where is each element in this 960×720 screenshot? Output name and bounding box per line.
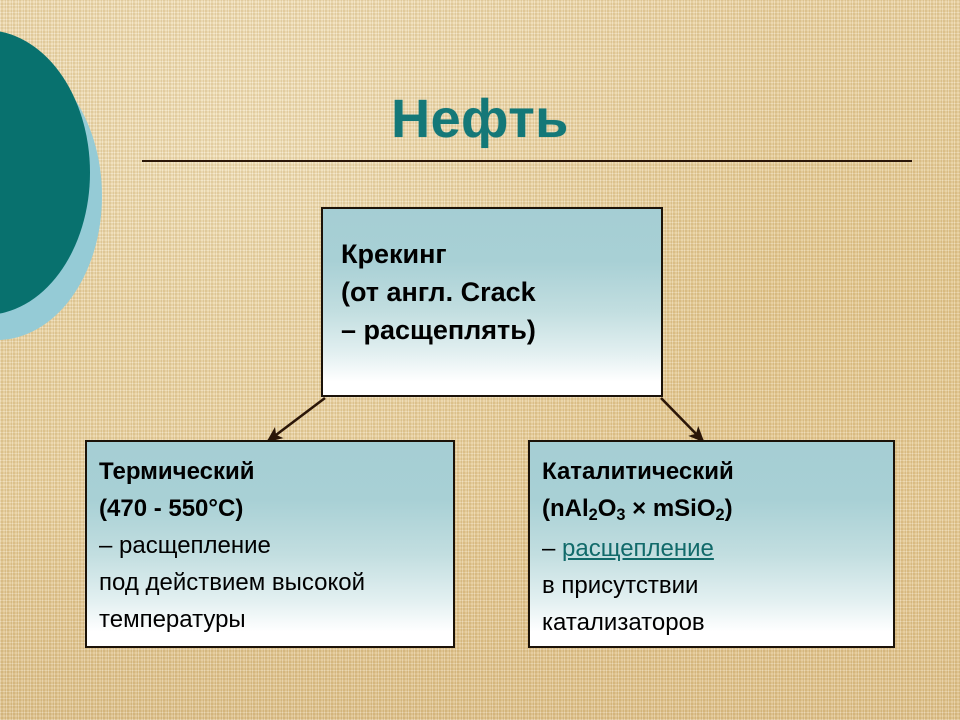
catalytic-body-3: катализаторов bbox=[542, 604, 893, 641]
slide-canvas: Нефть Крекинг (от англ. Crack – расщепля… bbox=[0, 0, 960, 720]
node-thermal-cracking[interactable]: Термический (470 - 550°C) – расщепление … bbox=[85, 440, 455, 648]
catalytic-body-1: – расщепление bbox=[542, 530, 893, 567]
thermal-body-2: под действием высокой bbox=[99, 564, 453, 601]
thermal-body-1: – расщепление bbox=[99, 527, 453, 564]
formula-sub-3: 2 bbox=[716, 506, 725, 524]
formula-sub-2: 3 bbox=[616, 506, 625, 524]
formula-mid-2: × mSiO bbox=[625, 495, 715, 522]
thermal-heading-2: (470 - 550°C) bbox=[99, 490, 453, 527]
thermal-heading-1: Термический bbox=[99, 453, 453, 490]
catalytic-dash: – bbox=[542, 535, 562, 562]
formula-prefix: (nAl bbox=[542, 495, 589, 522]
title-divider-rule bbox=[142, 160, 912, 162]
formula-sub-1: 2 bbox=[589, 506, 598, 524]
catalytic-formula: (nAl2O3 × mSiO2) bbox=[542, 490, 893, 530]
catalytic-body-2: в присутствии bbox=[542, 567, 893, 604]
cracking-line-2: (от англ. Crack bbox=[341, 273, 661, 311]
thermal-body-3: температуры bbox=[99, 601, 453, 638]
formula-suffix: ) bbox=[725, 495, 733, 522]
page-title: Нефть bbox=[0, 88, 960, 150]
catalytic-heading-1: Каталитический bbox=[542, 453, 893, 490]
cracking-line-1: Крекинг bbox=[341, 235, 661, 273]
arrow-to-thermal bbox=[268, 398, 325, 441]
arrow-to-catalytic bbox=[661, 398, 703, 441]
node-cracking[interactable]: Крекинг (от англ. Crack – расщеплять) bbox=[321, 207, 663, 397]
formula-mid-1: O bbox=[598, 495, 617, 522]
cracking-line-3: – расщеплять) bbox=[341, 311, 661, 349]
node-catalytic-cracking[interactable]: Каталитический (nAl2O3 × mSiO2) – расщеп… bbox=[528, 440, 895, 648]
link-rasshcheplenie[interactable]: расщепление bbox=[562, 535, 714, 562]
